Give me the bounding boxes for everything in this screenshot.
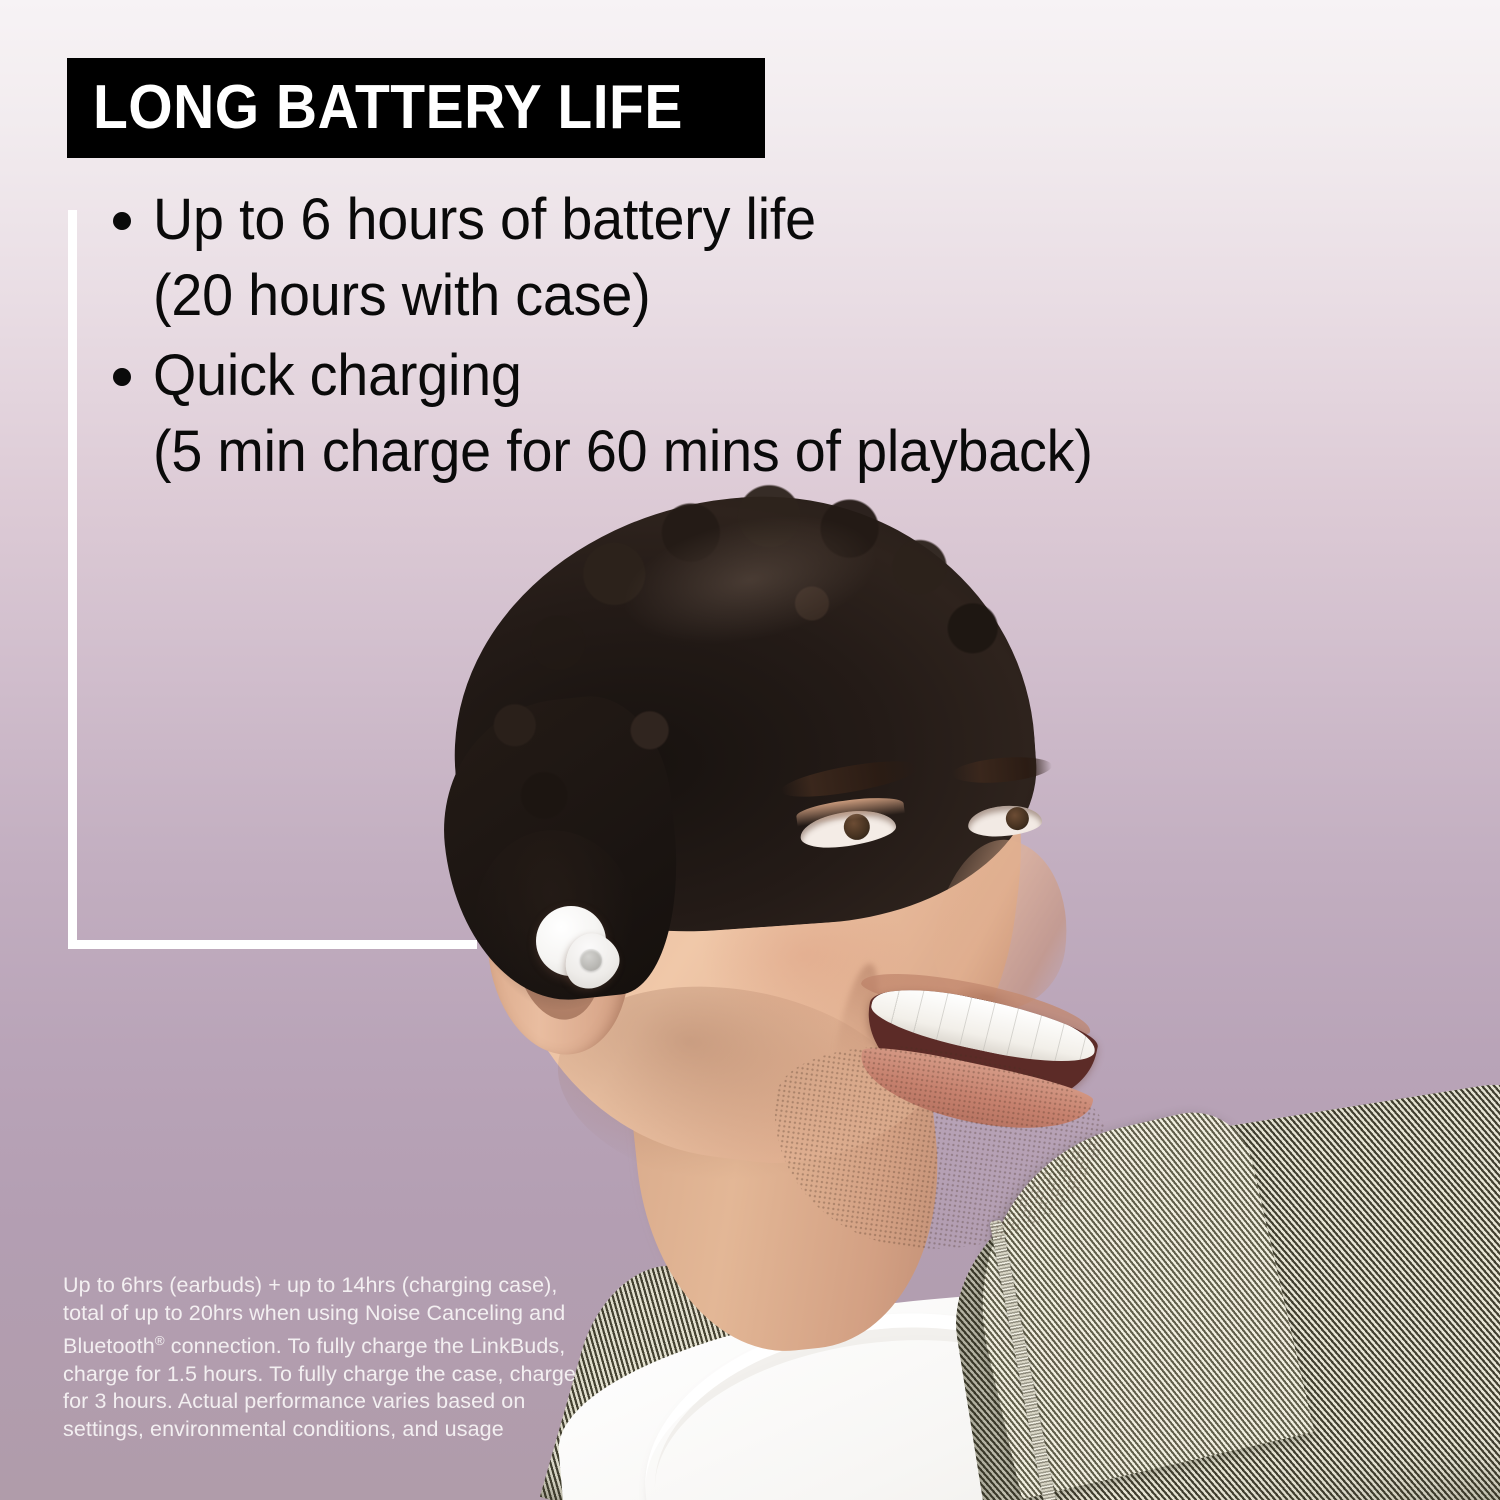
- headline-banner: LONG BATTERY LIFE: [67, 58, 765, 158]
- page-title: LONG BATTERY LIFE: [93, 77, 683, 139]
- feature-2-line-2: (5 min charge for 60 mins of playback): [153, 414, 1093, 490]
- registered-trademark-icon: ®: [155, 1333, 165, 1348]
- list-item: Up to 6 hours of battery life (20 hours …: [113, 182, 1343, 334]
- text-overlay: LONG BATTERY LIFE Up to 6 hours of batte…: [0, 0, 1500, 1500]
- list-item-text: Up to 6 hours of battery life (20 hours …: [153, 182, 844, 334]
- legal-footnote: Up to 6hrs (earbuds) + up to 14hrs (char…: [63, 1272, 583, 1443]
- feature-1-line-2: (20 hours with case): [153, 258, 816, 334]
- list-item: Quick charging (5 min charge for 60 mins…: [113, 338, 1343, 490]
- bullet-dot-icon: [113, 368, 131, 386]
- list-item-text: Quick charging (5 min charge for 60 mins…: [153, 338, 1132, 490]
- feature-2-line-1: Quick charging: [153, 338, 1093, 414]
- feature-list: Up to 6 hours of battery life (20 hours …: [113, 182, 1343, 490]
- feature-1-line-1: Up to 6 hours of battery life: [153, 182, 816, 258]
- marketing-banner: LONG BATTERY LIFE Up to 6 hours of batte…: [0, 0, 1500, 1500]
- bullet-dot-icon: [113, 212, 131, 230]
